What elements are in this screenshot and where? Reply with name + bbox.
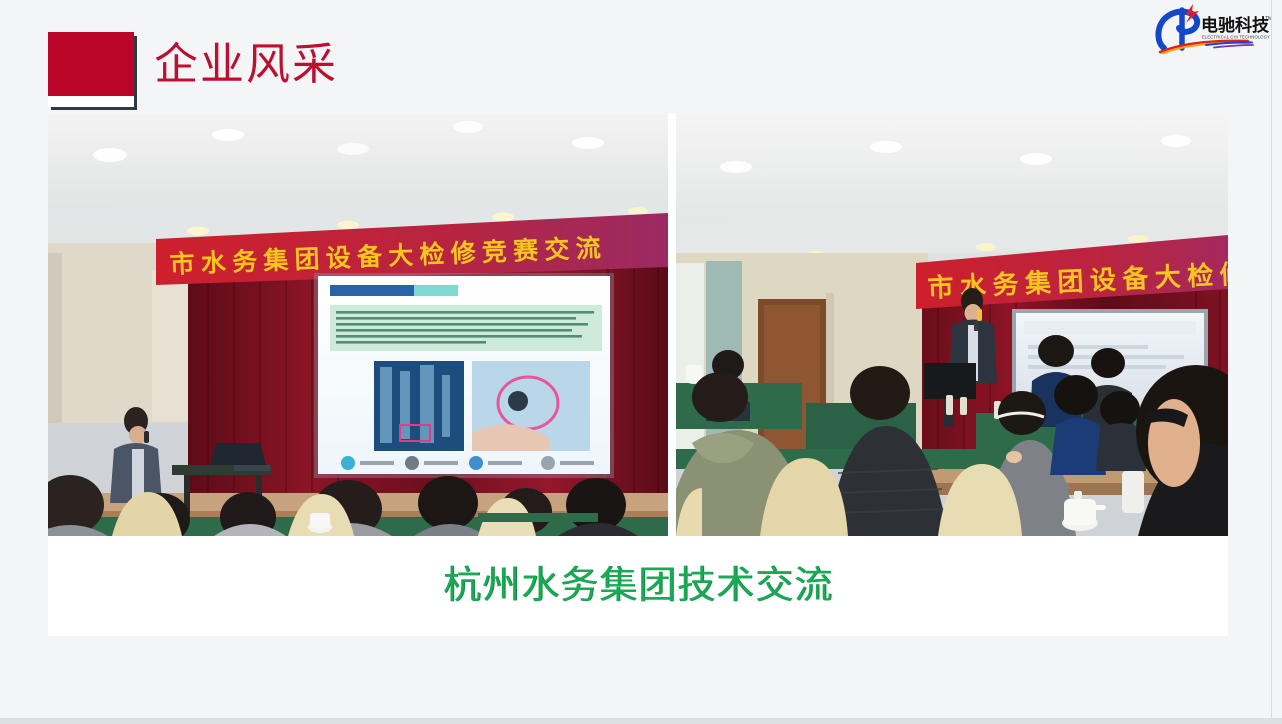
header-red-block	[48, 32, 136, 112]
slide-page: 电驰科技 ELECTRICAL CHI TECHNOLOGY TM 企业风采	[0, 0, 1282, 724]
page-bottom-strip	[0, 718, 1282, 724]
red-block-white-strip	[48, 96, 134, 107]
photo-left-image: 市 水 务 集 团 设 备 大 检 修 竞 赛 交 流	[48, 113, 668, 536]
photo-gallery: 市 水 务 集 团 设 备 大 检 修 竞 赛 交 流	[48, 113, 1228, 536]
red-block-shadow-right	[134, 36, 137, 110]
page-title: 企业风采	[154, 38, 338, 92]
red-block-fill	[48, 32, 134, 96]
page-right-gutter	[1272, 0, 1282, 724]
page-header: 企业风采	[48, 32, 1228, 112]
photo-caption: 杭州水务集团技术交流	[48, 536, 1228, 636]
photo-gap	[668, 113, 676, 536]
photo-right-image: 市 水 务 集 团 设 备 大 检 修 竞 赛 交	[676, 113, 1228, 536]
red-block-shadow-bottom	[51, 107, 137, 110]
caption-text: 杭州水务集团技术交流	[443, 563, 833, 609]
photo-left[interactable]: 市 水 务 集 团 设 备 大 检 修 竞 赛 交 流	[48, 113, 668, 536]
content-card: 市 水 务 集 团 设 备 大 检 修 竞 赛 交 流	[48, 113, 1228, 636]
photo-right[interactable]: 市 水 务 集 团 设 备 大 检 修 竞 赛 交	[676, 113, 1228, 536]
